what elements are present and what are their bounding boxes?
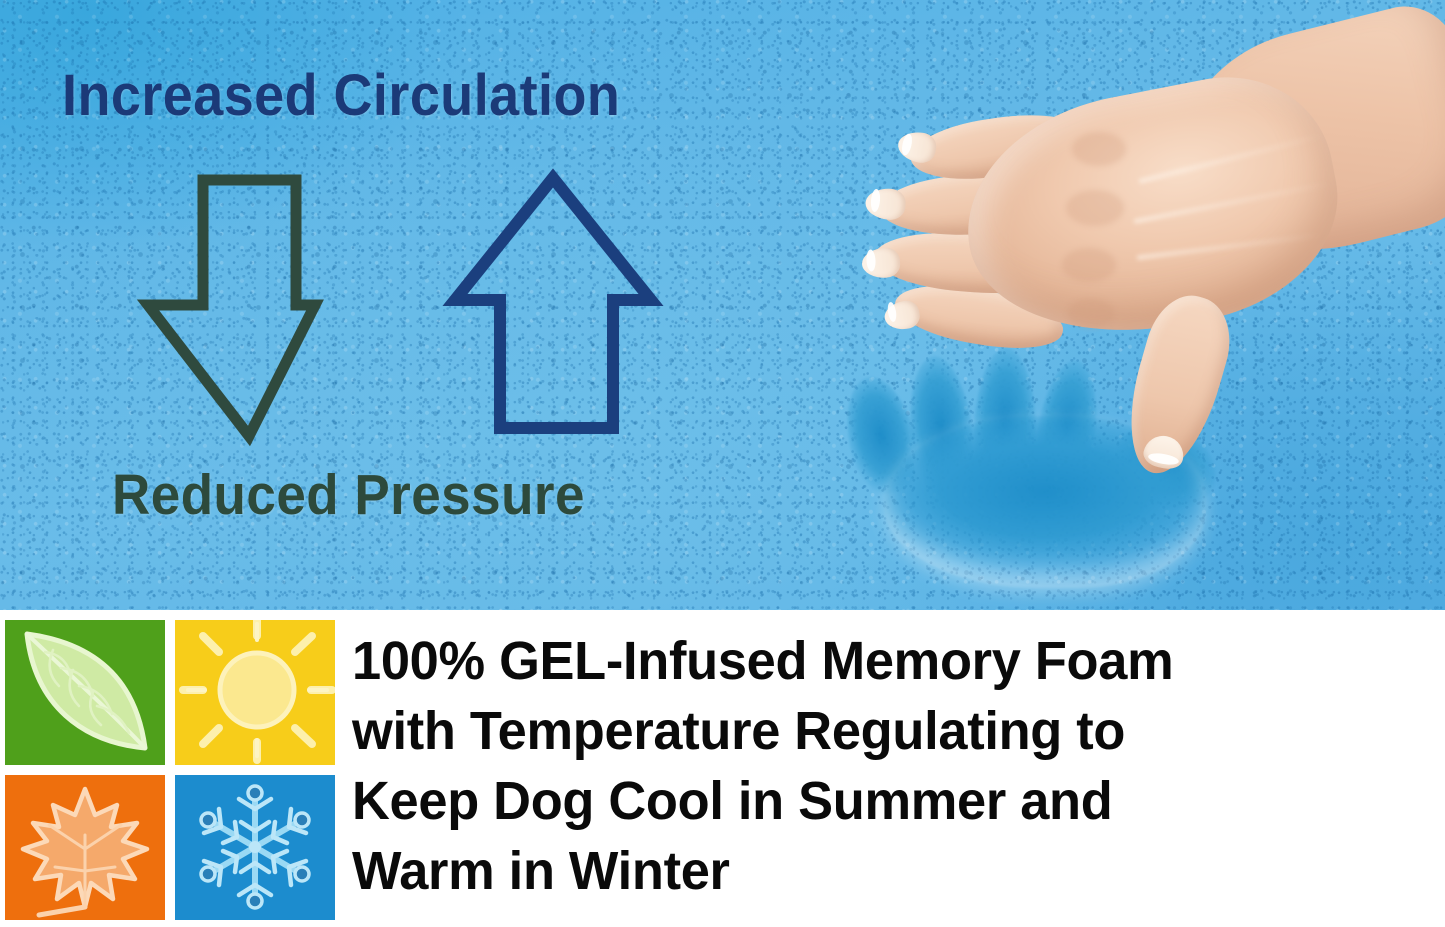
- foam-photo-panel: Increased Circulation Reduced Pressure: [0, 0, 1445, 610]
- copy-line-1: 100% GEL-Infused Memory Foam: [352, 626, 1409, 696]
- season-icon-grid: [5, 620, 335, 920]
- tile-winter-snowflake: [175, 775, 335, 920]
- leaf-icon: [5, 620, 165, 765]
- copy-line-4: Warm in Winter: [352, 836, 1409, 906]
- down-arrow-icon: [148, 180, 315, 436]
- reduced-pressure-label: Reduced Pressure: [112, 462, 585, 528]
- tile-summer-sun: [175, 620, 335, 765]
- product-copy-block: 100% GEL-Infused Memory Foam with Temper…: [352, 626, 1442, 906]
- maple-leaf-icon: [5, 775, 165, 920]
- sun-icon: [175, 620, 335, 765]
- increased-circulation-label: Increased Circulation: [62, 62, 620, 129]
- copy-line-3: Keep Dog Cool in Summer and: [352, 766, 1409, 836]
- snowflake-icon: [175, 775, 335, 920]
- up-arrow-icon: [455, 178, 651, 428]
- tile-autumn-maple: [5, 775, 165, 920]
- product-feature-poster: Increased Circulation Reduced Pressure: [0, 0, 1445, 927]
- copy-line-2: with Temperature Regulating to: [352, 696, 1409, 766]
- tile-spring-leaf: [5, 620, 165, 765]
- feature-info-band: 100% GEL-Infused Memory Foam with Temper…: [0, 610, 1445, 927]
